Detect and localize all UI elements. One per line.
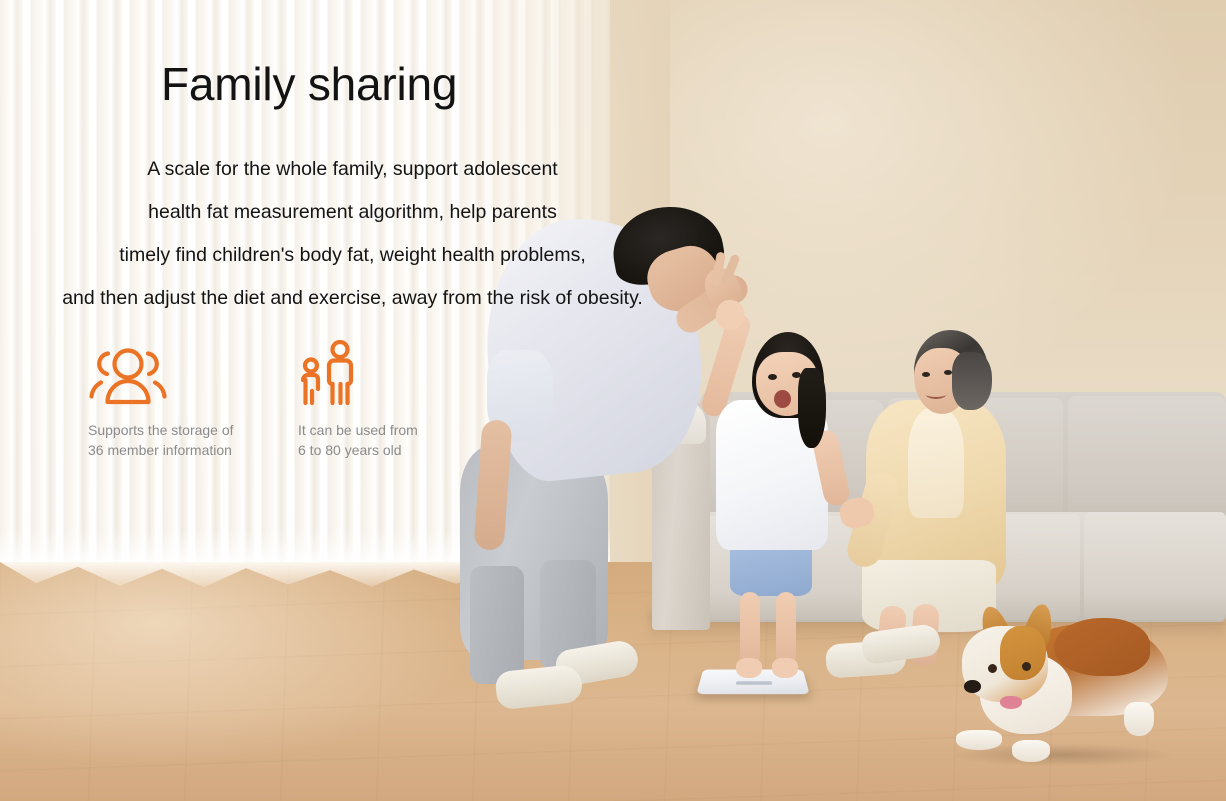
feature-age-range-caption: It can be used from 6 to 80 years old xyxy=(298,420,450,460)
feature-age-range: It can be used from 6 to 80 years old xyxy=(298,338,450,460)
feature-list: Supports the storage of 36 member inform… xyxy=(88,338,488,460)
hero-description-line: and then adjust the diet and exercise, a… xyxy=(0,277,705,320)
page-title: Family sharing xyxy=(161,57,457,111)
text-overlay: Family sharing A scale for the whole fam… xyxy=(0,0,1226,801)
hero-description-line: health fat measurement algorithm, help p… xyxy=(0,191,705,234)
caption-line: 36 member information xyxy=(88,440,240,460)
product-banner: Family sharing A scale for the whole fam… xyxy=(0,0,1226,801)
group-of-people-icon xyxy=(88,338,240,406)
feature-member-storage-caption: Supports the storage of 36 member inform… xyxy=(88,420,240,460)
hero-description: A scale for the whole family, support ad… xyxy=(0,148,705,320)
hero-description-line: A scale for the whole family, support ad… xyxy=(0,148,705,191)
feature-member-storage: Supports the storage of 36 member inform… xyxy=(88,338,240,460)
hero-description-line: timely find children's body fat, weight … xyxy=(0,234,705,277)
caption-line: Supports the storage of xyxy=(88,420,240,440)
adult-and-child-icon xyxy=(298,338,450,406)
caption-line: 6 to 80 years old xyxy=(298,440,450,460)
caption-line: It can be used from xyxy=(298,420,450,440)
